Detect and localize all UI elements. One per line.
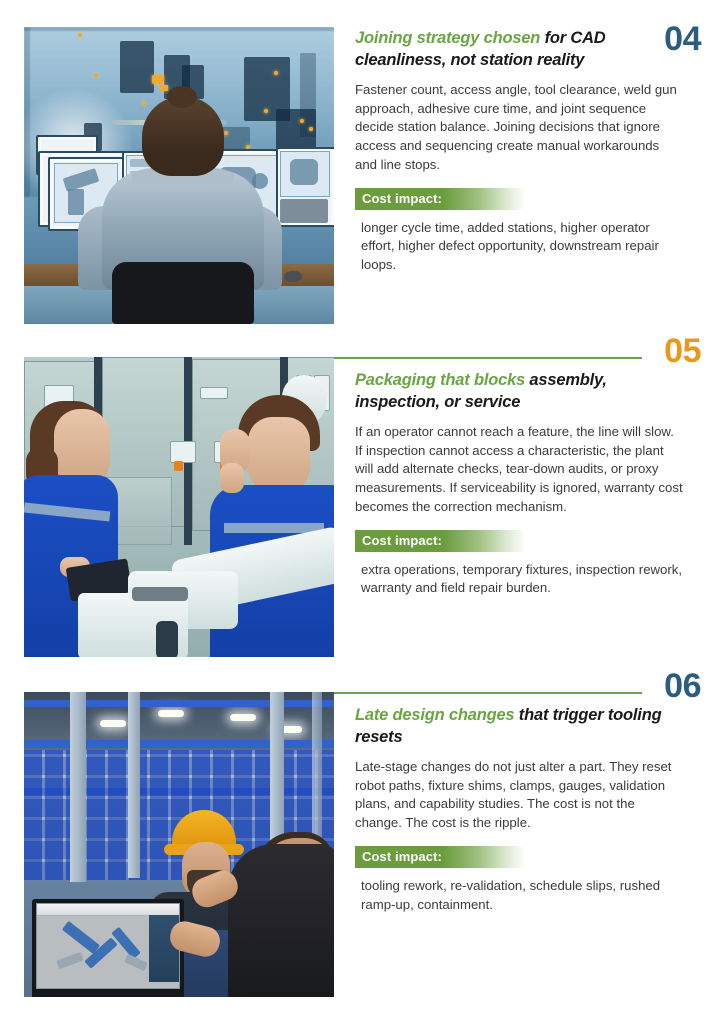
section-04-impact-text: longer cycle time, added stations, highe… bbox=[361, 219, 686, 275]
section-05: 05 bbox=[0, 340, 725, 675]
section-06-image bbox=[24, 692, 334, 997]
section-04-heading: Joining strategy chosen for CAD cleanlin… bbox=[355, 28, 675, 72]
section-05-badge-label: Cost impact: bbox=[355, 533, 442, 548]
photo-hardhat-engineer-monitor bbox=[24, 692, 334, 997]
section-05-impact-text: extra operations, temporary fixtures, in… bbox=[361, 561, 686, 598]
section-04-image bbox=[24, 27, 334, 324]
section-04-body: Fastener count, access angle, tool clear… bbox=[355, 81, 683, 175]
section-05-heading: Packaging that blocks assembly, inspecti… bbox=[355, 370, 675, 414]
section-04-badge-label: Cost impact: bbox=[355, 191, 442, 206]
section-06: 06 bbox=[0, 675, 725, 1024]
section-06-badge-label: Cost impact: bbox=[355, 849, 442, 864]
photo-cad-engineer bbox=[24, 27, 334, 324]
step-number-06: 06 bbox=[664, 669, 701, 703]
section-04-content: Joining strategy chosen for CAD cleanlin… bbox=[355, 28, 695, 288]
section-06-content: Late design changes that trigger tooling… bbox=[355, 705, 695, 927]
section-05-body: If an operator cannot reach a feature, t… bbox=[355, 423, 683, 517]
section-04-heading-highlight: Joining strategy chosen bbox=[355, 29, 540, 47]
section-06-heading-highlight: Late design changes bbox=[355, 706, 514, 724]
infographic-page: 04 bbox=[0, 0, 725, 1024]
section-06-cost-impact-badge: Cost impact: bbox=[355, 846, 525, 868]
step-number-05: 05 bbox=[664, 334, 701, 368]
section-05-cost-impact-badge: Cost impact: bbox=[355, 530, 525, 552]
section-06-heading: Late design changes that trigger tooling… bbox=[355, 705, 675, 749]
section-04: 04 bbox=[0, 0, 725, 340]
section-04-cost-impact-badge: Cost impact: bbox=[355, 188, 525, 210]
section-05-image bbox=[24, 357, 334, 657]
photo-technicians-control-panel bbox=[24, 357, 334, 657]
section-06-impact-text: tooling rework, re-validation, schedule … bbox=[361, 877, 686, 914]
section-06-body: Late-stage changes do not just alter a p… bbox=[355, 758, 683, 833]
section-05-heading-highlight: Packaging that blocks bbox=[355, 371, 525, 389]
section-05-content: Packaging that blocks assembly, inspecti… bbox=[355, 370, 695, 611]
